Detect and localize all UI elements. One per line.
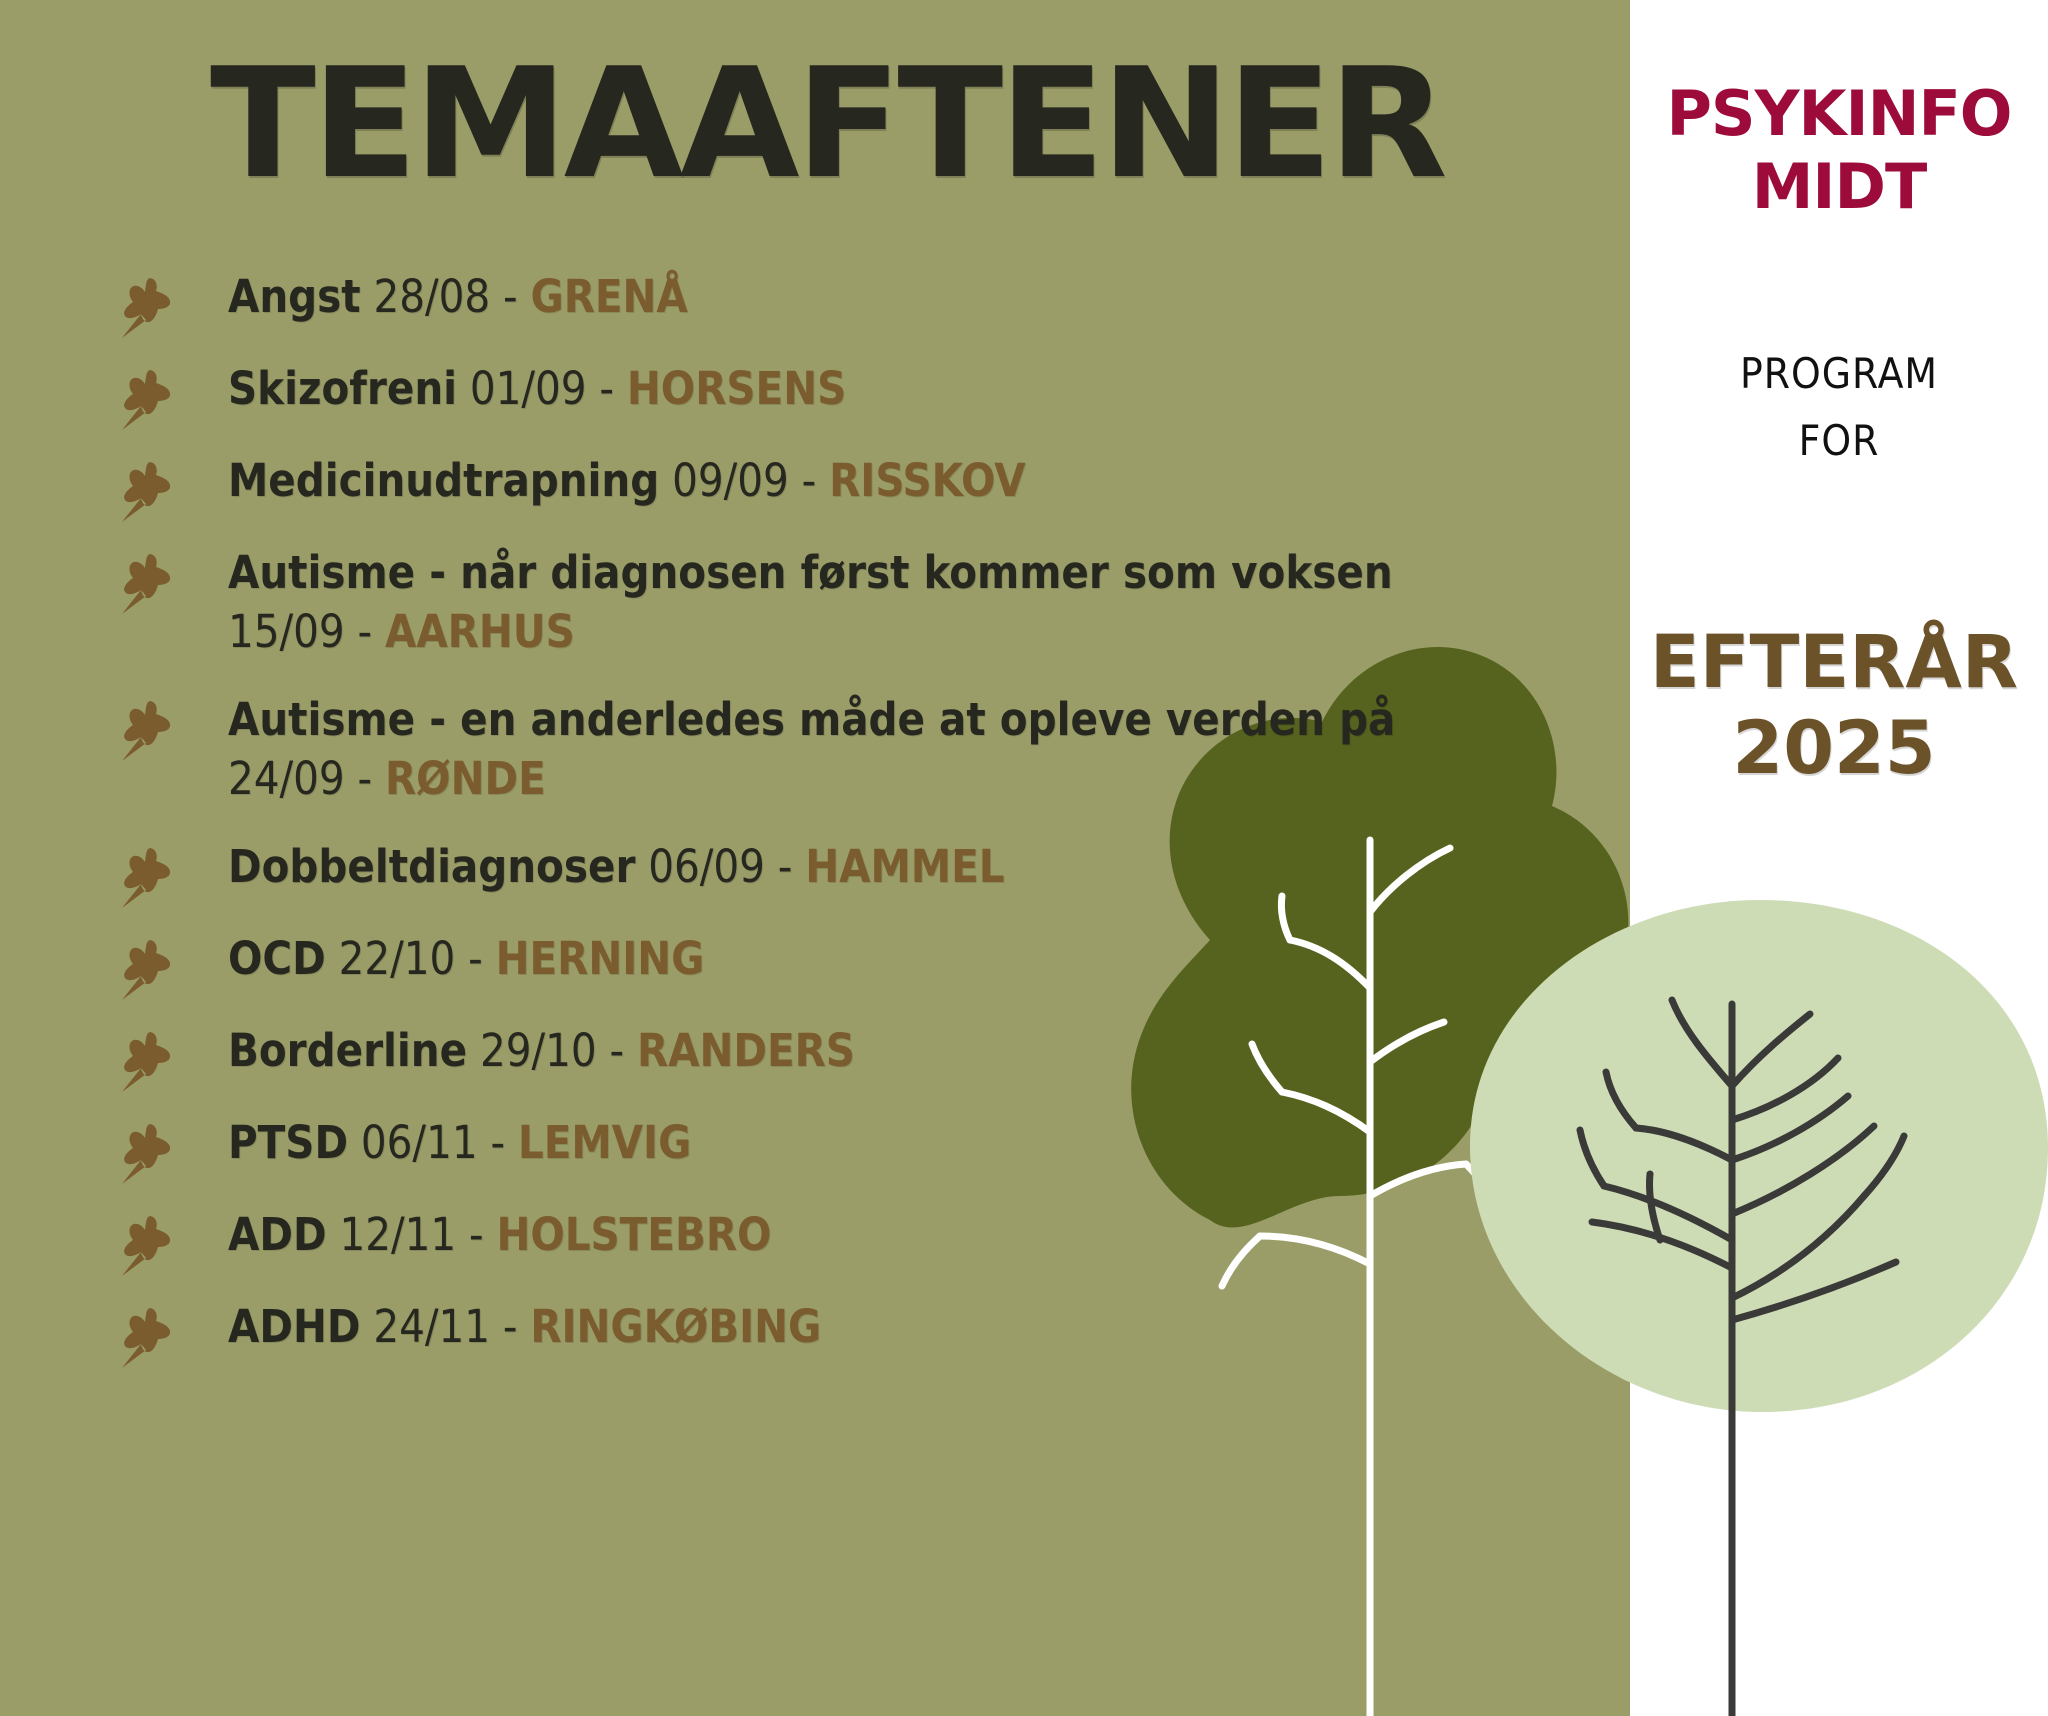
event-separator: - bbox=[490, 1116, 505, 1169]
event-topic: Medicinudtrapning bbox=[228, 454, 659, 507]
list-item[interactable]: OCD 22/10 - HERNING bbox=[120, 930, 1540, 1000]
event-city: GRENÅ bbox=[530, 270, 687, 323]
event-date: 06/09 bbox=[648, 840, 765, 893]
pushpin-icon bbox=[120, 930, 228, 1000]
list-item[interactable]: Medicinudtrapning 09/09 - RISSKOV bbox=[120, 452, 1540, 522]
event-city: RØNDE bbox=[385, 752, 546, 805]
light-tree-icon bbox=[1470, 900, 2048, 1716]
event-topic: Autisme - når diagnosen først kommer som… bbox=[228, 546, 1393, 599]
event-text: OCD 22/10 - HERNING bbox=[228, 930, 1540, 989]
event-date-line: 15/09 - AARHUS bbox=[228, 603, 1540, 662]
event-text: Skizofreni 01/09 - HORSENS bbox=[228, 360, 1540, 419]
event-city: HORSENS bbox=[627, 362, 846, 415]
list-item[interactable]: Borderline 29/10 - RANDERS bbox=[120, 1022, 1540, 1092]
poster-canvas: TEMAAFTENER Angst 28/08 - GRENÅ Skizofre… bbox=[0, 0, 2048, 1716]
event-text: Medicinudtrapning 09/09 - RISSKOV bbox=[228, 452, 1540, 511]
page-title: TEMAAFTENER bbox=[210, 48, 1444, 200]
pushpin-icon bbox=[120, 1022, 228, 1092]
event-city: LEMVIG bbox=[518, 1116, 691, 1169]
event-separator: - bbox=[469, 1208, 484, 1261]
event-date: 09/09 bbox=[672, 454, 789, 507]
pushpin-icon bbox=[120, 1206, 228, 1276]
event-date: 22/10 bbox=[339, 932, 456, 985]
event-date: 29/10 bbox=[480, 1024, 597, 1077]
event-separator: - bbox=[503, 270, 518, 323]
list-item[interactable]: Autisme - når diagnosen først kommer som… bbox=[120, 544, 1540, 661]
event-topic: ADD bbox=[228, 1208, 327, 1261]
event-text: Autisme - en anderledes måde at opleve v… bbox=[228, 691, 1540, 808]
pushpin-icon bbox=[120, 268, 228, 338]
list-item[interactable]: Skizofreni 01/09 - HORSENS bbox=[120, 360, 1540, 430]
list-item[interactable]: Autisme - en anderledes måde at opleve v… bbox=[120, 691, 1540, 808]
pushpin-icon bbox=[120, 544, 228, 614]
pushpin-icon bbox=[120, 691, 228, 761]
event-separator: - bbox=[609, 1024, 624, 1077]
for-label: FOR bbox=[1630, 407, 2048, 474]
event-separator: - bbox=[503, 1300, 518, 1353]
list-item[interactable]: ADHD 24/11 - RINGKØBING bbox=[120, 1298, 1540, 1368]
event-city: RANDERS bbox=[637, 1024, 855, 1077]
event-topic: Autisme - en anderledes måde at opleve v… bbox=[228, 693, 1395, 746]
pushpin-icon bbox=[120, 452, 228, 522]
event-city: RINGKØBING bbox=[530, 1300, 821, 1353]
event-text: PTSD 06/11 - LEMVIG bbox=[228, 1114, 1540, 1173]
event-date: 06/11 bbox=[361, 1116, 478, 1169]
event-date: 12/11 bbox=[339, 1208, 456, 1261]
event-separator: - bbox=[599, 362, 614, 415]
event-text: ADD 12/11 - HOLSTEBRO bbox=[228, 1206, 1540, 1265]
event-list: Angst 28/08 - GRENÅ Skizofreni 01/09 - H… bbox=[120, 268, 1540, 1390]
program-label: PROGRAM bbox=[1630, 340, 2048, 407]
pushpin-icon bbox=[120, 838, 228, 908]
event-topic: Skizofreni bbox=[228, 362, 457, 415]
brand-line-1: PSYKINFO bbox=[1666, 77, 2011, 150]
event-date: 24/11 bbox=[373, 1300, 490, 1353]
event-topic: Borderline bbox=[228, 1024, 467, 1077]
event-date-line: 24/09 - RØNDE bbox=[228, 750, 1540, 809]
event-separator: - bbox=[358, 605, 373, 658]
event-city: HAMMEL bbox=[805, 840, 1004, 893]
event-date: 24/09 bbox=[228, 752, 345, 805]
event-topic: OCD bbox=[228, 932, 326, 985]
event-separator: - bbox=[468, 932, 483, 985]
event-city: HERNING bbox=[496, 932, 705, 985]
brand-line-2: MIDT bbox=[1630, 151, 2048, 224]
program-for-label: PROGRAM FOR bbox=[1630, 340, 2048, 474]
season-line-2: 2025 bbox=[1620, 706, 2048, 792]
list-item[interactable]: Angst 28/08 - GRENÅ bbox=[120, 268, 1540, 338]
event-separator: - bbox=[358, 752, 373, 805]
event-text: Dobbeltdiagnoser 06/09 - HAMMEL bbox=[228, 838, 1540, 897]
event-topic: PTSD bbox=[228, 1116, 348, 1169]
list-item[interactable]: PTSD 06/11 - LEMVIG bbox=[120, 1114, 1540, 1184]
event-text: Angst 28/08 - GRENÅ bbox=[228, 268, 1540, 327]
event-separator: - bbox=[778, 840, 793, 893]
event-date: 01/09 bbox=[470, 362, 587, 415]
list-item[interactable]: Dobbeltdiagnoser 06/09 - HAMMEL bbox=[120, 838, 1540, 908]
event-topic: Angst bbox=[228, 270, 361, 323]
pushpin-icon bbox=[120, 1298, 228, 1368]
event-date: 28/08 bbox=[373, 270, 490, 323]
event-topic: Dobbeltdiagnoser bbox=[228, 840, 635, 893]
event-text: Autisme - når diagnosen først kommer som… bbox=[228, 544, 1540, 661]
event-text: ADHD 24/11 - RINGKØBING bbox=[228, 1298, 1540, 1357]
pushpin-icon bbox=[120, 360, 228, 430]
pushpin-icon bbox=[120, 1114, 228, 1184]
event-text: Borderline 29/10 - RANDERS bbox=[228, 1022, 1540, 1081]
event-city: HOLSTEBRO bbox=[496, 1208, 771, 1261]
event-city: RISSKOV bbox=[829, 454, 1025, 507]
event-date: 15/09 bbox=[228, 605, 345, 658]
list-item[interactable]: ADD 12/11 - HOLSTEBRO bbox=[120, 1206, 1540, 1276]
event-separator: - bbox=[802, 454, 817, 507]
season-label: EFTERÅR 2025 bbox=[1620, 620, 2048, 792]
event-city: AARHUS bbox=[385, 605, 575, 658]
brand-logo: PSYKINFO MIDT bbox=[1630, 78, 2048, 223]
season-line-1: EFTERÅR bbox=[1620, 620, 2048, 706]
event-topic: ADHD bbox=[228, 1300, 360, 1353]
